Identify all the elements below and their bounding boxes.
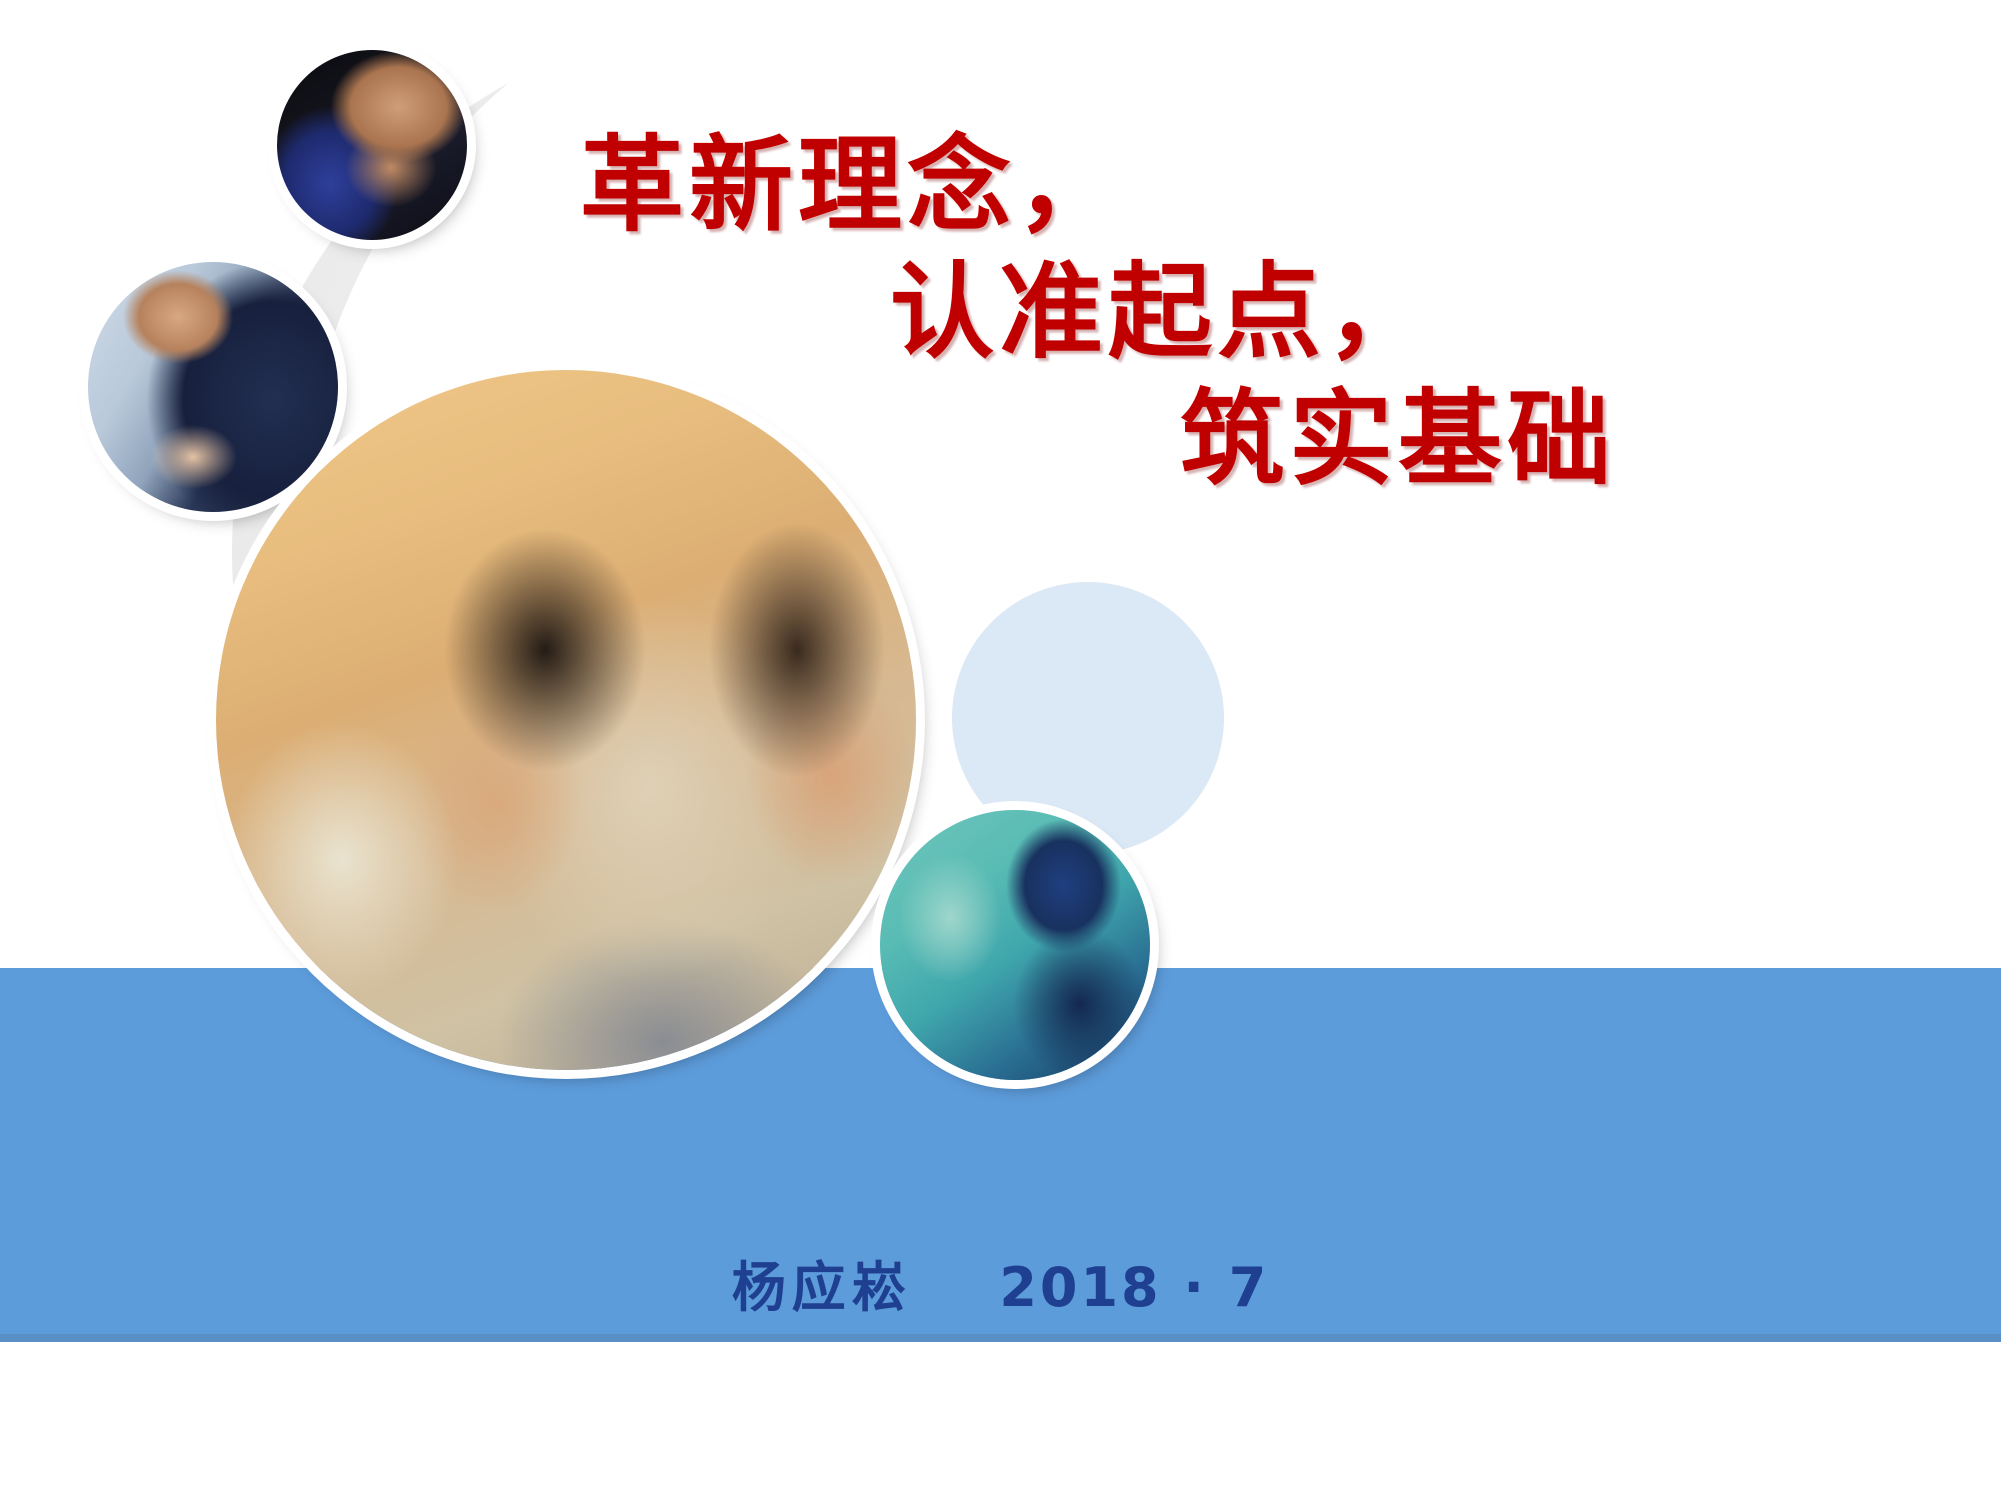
footer-blue-band-edge — [0, 1334, 2001, 1342]
photo-thinking-inner — [277, 50, 467, 240]
photo-presenter-inner — [880, 810, 1150, 1080]
footer-caption: 杨应崧 2018 · 7 — [0, 1243, 2001, 1322]
photo-thinking-businessman — [277, 50, 467, 240]
photo-presenter-flipchart — [880, 810, 1150, 1080]
title-line-3: 筑实基础 — [560, 376, 1880, 503]
slide-title: 革新理念， 认准起点， 筑实基础 — [560, 122, 1880, 503]
author-name: 杨应崧 — [732, 1256, 912, 1319]
title-line-1: 革新理念， — [560, 122, 1880, 249]
title-slide: 革新理念， 认准起点， 筑实基础 杨应崧 2018 · 7 — [0, 0, 2001, 1501]
title-line-2: 认准起点， — [560, 249, 1880, 376]
presentation-date: 2018 · 7 — [999, 1256, 1269, 1319]
